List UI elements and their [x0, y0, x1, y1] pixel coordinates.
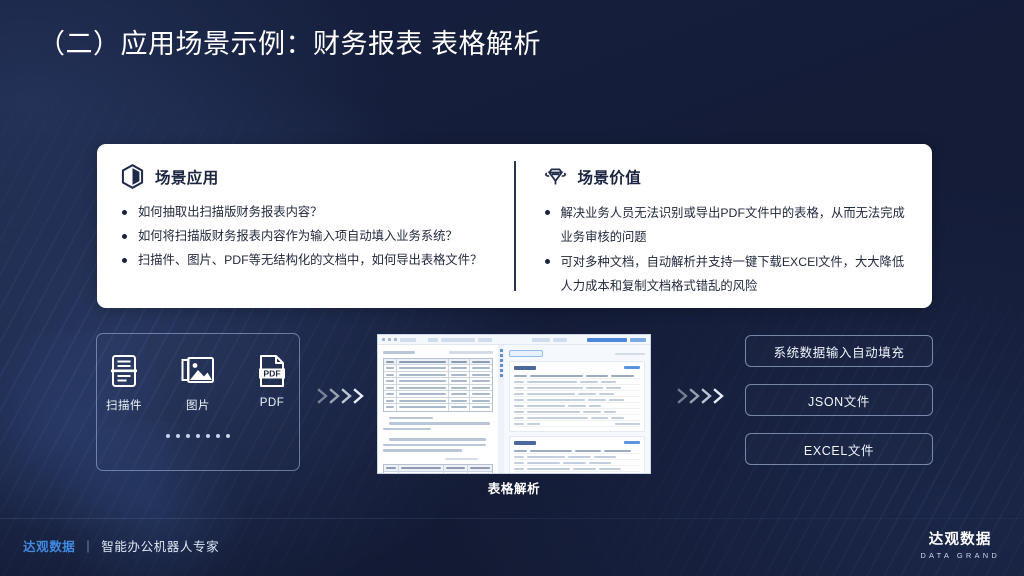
chevrons-right-icon [316, 386, 374, 406]
logo-english: DATA GRAND [920, 551, 1000, 560]
input-type-label: 图片 [175, 397, 221, 413]
input-type-label: 扫描件 [101, 397, 147, 413]
table-row-total [514, 472, 640, 474]
toolbar-icon [388, 338, 391, 341]
toolbar-chip [441, 338, 475, 342]
toolbar-chip [532, 338, 550, 342]
screenshot-caption: 表格解析 [377, 478, 651, 497]
scene-application-header: 场景应用 [121, 164, 488, 189]
toolbar-primary-action[interactable] [587, 338, 627, 342]
page-thumb[interactable] [500, 354, 503, 357]
list-item: 解决业务人员无法识别或导出PDF文件中的表格，从而无法完成业务审核的问题 [544, 202, 911, 250]
list-item: 如何抽取出扫描版财务报表内容？ [121, 202, 488, 223]
output-button-json[interactable]: JSON文件 [745, 384, 933, 416]
toolbar-icon [394, 338, 397, 341]
scanner-document-icon [101, 350, 147, 392]
scene-application-column: 场景应用 如何抽取出扫描版财务报表内容？ 如何将扫描版财务报表内容作为输入项自动… [97, 144, 510, 308]
scene-value-title: 场景价值 [578, 166, 642, 188]
document-preview-pane[interactable] [378, 345, 498, 474]
app-body [378, 345, 650, 474]
parsed-result-pane[interactable] [504, 345, 650, 474]
toolbar-chip [428, 338, 438, 342]
toolbar-icon [382, 338, 385, 341]
input-type-pdf[interactable]: PDF PDF [249, 350, 295, 413]
table-row [384, 404, 492, 411]
footer-brand: 达观数据 [23, 536, 75, 555]
footer-branding: 达观数据 | 智能办公机器人专家 [23, 536, 219, 555]
toolbar-secondary-action[interactable] [630, 338, 646, 342]
app-toolbar [378, 335, 650, 345]
scene-application-title: 场景应用 [155, 166, 219, 188]
info-card: 场景应用 如何抽取出扫描版财务报表内容？ 如何将扫描版财务报表内容作为输入项自动… [97, 144, 932, 308]
toolbar-chip [553, 338, 567, 342]
input-type-image[interactable]: 图片 [175, 350, 221, 413]
parsed-table-card-1 [509, 361, 645, 432]
list-item: 如何将扫描版财务报表内容作为输入项自动填入业务系统？ [121, 226, 488, 247]
output-button-excel[interactable]: EXCEL文件 [745, 433, 933, 465]
scene-value-bullets: 解决业务人员无法识别或导出PDF文件中的表格，从而无法完成业务审核的问题 可对多… [544, 202, 911, 299]
download-excel-button[interactable] [509, 350, 543, 357]
company-logo: 达观数据 DATA GRAND [920, 528, 1000, 560]
page-thumb[interactable] [500, 374, 503, 377]
page-title: （二）应用场景示例：财务报表 表格解析 [38, 22, 541, 61]
page-thumb[interactable] [500, 369, 503, 372]
footer-divider [0, 518, 1024, 519]
toolbar-chip [478, 338, 492, 342]
table-action-link[interactable] [624, 366, 640, 369]
table-action-link[interactable] [624, 441, 640, 444]
svg-text:PDF: PDF [263, 369, 280, 379]
preview-table-1 [383, 358, 493, 412]
table-title [514, 441, 536, 445]
page-thumb[interactable] [500, 364, 503, 367]
list-item: 扫描件、图片、PDF等无结构化的文档中，如何导出表格文件？ [121, 250, 488, 271]
input-types-box: 扫描件 图片 [96, 333, 300, 471]
table-row-total [514, 421, 640, 427]
page-thumb[interactable] [500, 359, 503, 362]
flow-arrow-input-to-parse [316, 386, 374, 406]
chevrons-right-icon [676, 386, 734, 406]
input-type-label: PDF [249, 397, 295, 409]
slide-root: （二）应用场景示例：财务报表 表格解析 场景应用 如何抽取出扫描版财务报表内容？… [0, 0, 1024, 576]
more-types-dots [97, 434, 299, 438]
footer-separator: | [86, 539, 90, 553]
scene-value-header: 场景价值 [544, 164, 911, 189]
parsed-table-card-2 [509, 436, 645, 474]
footer-tagline: 智能办公机器人专家 [101, 536, 219, 555]
logo-chinese: 达观数据 [920, 528, 1000, 549]
table-parsing-app-screenshot[interactable] [377, 334, 651, 474]
scene-application-bullets: 如何抽取出扫描版财务报表内容？ 如何将扫描版财务报表内容作为输入项自动填入业务系… [121, 202, 488, 271]
image-icon [175, 350, 221, 392]
pdf-file-icon: PDF [249, 350, 295, 392]
input-icon-row: 扫描件 图片 [97, 334, 299, 413]
table-title [514, 366, 536, 370]
cube-icon [121, 164, 144, 189]
list-item: 可对多种文档，自动解析并支持一键下载EXCEl文件，大大降低人力成本和复制文档格… [544, 251, 911, 299]
scene-value-column: 场景价值 解决业务人员无法识别或导出PDF文件中的表格，从而无法完成业务审核的问… [510, 144, 933, 308]
input-type-scan[interactable]: 扫描件 [101, 350, 147, 413]
toolbar-chip [400, 338, 416, 342]
table-row [384, 472, 492, 475]
output-buttons: 系统数据输入自动填充 JSON文件 EXCEL文件 [745, 335, 933, 465]
page-thumb[interactable] [500, 349, 503, 352]
output-button-auto-fill[interactable]: 系统数据输入自动填充 [745, 335, 933, 367]
flow-arrow-parse-to-output [676, 386, 734, 406]
gem-pin-icon [544, 164, 567, 189]
preview-table-2 [383, 464, 493, 474]
